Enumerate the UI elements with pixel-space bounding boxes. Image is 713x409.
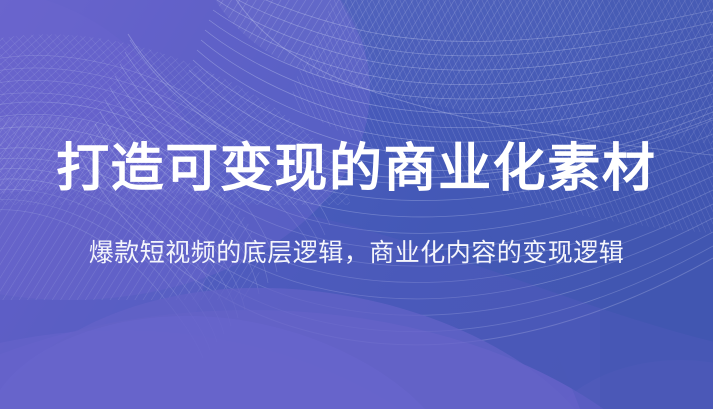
poster-banner: 打造可变现的商业化素材 爆款短视频的底层逻辑，商业化内容的变现逻辑	[0, 0, 713, 409]
poster-text-layer: 打造可变现的商业化素材 爆款短视频的底层逻辑，商业化内容的变现逻辑	[0, 0, 713, 409]
poster-subtitle: 爆款短视频的底层逻辑，商业化内容的变现逻辑	[89, 241, 625, 266]
page-title: 打造可变现的商业化素材	[56, 143, 656, 195]
